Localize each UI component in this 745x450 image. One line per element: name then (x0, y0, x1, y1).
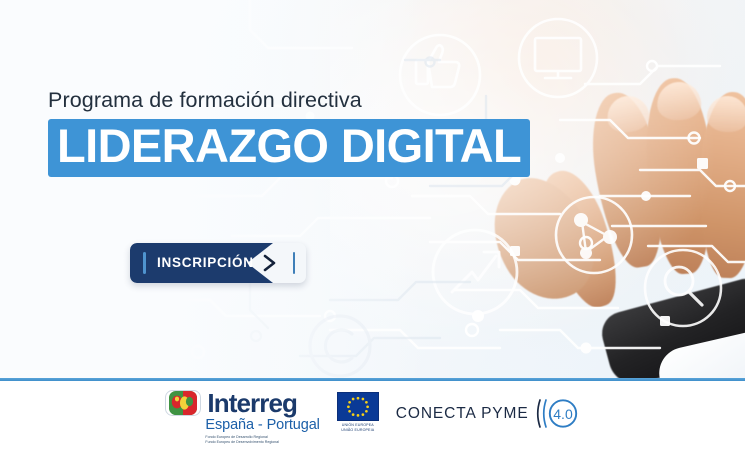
hero-left-fade (0, 0, 430, 380)
eu-flag-icon (337, 392, 379, 421)
interreg-mark-icon (165, 390, 201, 416)
inscripcion-button[interactable]: INSCRIPCIÓN (130, 243, 306, 283)
interreg-top-row: Interreg (165, 390, 297, 416)
banner-title-band: LIDERAZGO DIGITAL (48, 119, 530, 177)
banner-kicker: Programa de formación directiva (48, 88, 530, 113)
cta-label: INSCRIPCIÓN (157, 255, 254, 270)
eu-caption: UNIÓN EUROPEA UNIÃO EUROPEIA (341, 423, 374, 432)
interreg-fineprint-line-2: Fundo Europeu de Desenvolvimento Regiona… (205, 440, 279, 445)
headline-group: Programa de formación directiva LIDERAZG… (48, 88, 530, 177)
eu-caption-line-1: UNIÓN EUROPEA (341, 423, 374, 428)
chevron-right-icon (261, 254, 278, 272)
promo-banner: Programa de formación directiva LIDERAZG… (0, 0, 745, 450)
hero-background: Programa de formación directiva LIDERAZG… (0, 0, 745, 380)
conecta-pyme-40-badge-icon: 4.0 (534, 397, 580, 430)
eu-logo: UNIÓN EUROPEA UNIÃO EUROPEIA (337, 392, 379, 432)
conecta-pyme-logo: CONECTA PYME 4.0 (396, 397, 580, 430)
cta-accent-bar-left (143, 252, 146, 274)
conecta-pyme-wordmark: CONECTA PYME (396, 405, 529, 423)
cta-accent-bar-right (293, 252, 296, 274)
banner-title: LIDERAZGO DIGITAL (57, 121, 521, 171)
interreg-wordmark: Interreg (207, 390, 297, 416)
interreg-fineprint-line-1: Fondo Europeo de Desarrollo Regional (205, 435, 279, 440)
conecta-pyme-version: 4.0 (553, 406, 573, 422)
interreg-logo: Interreg España - Portugal Fondo Europeo… (165, 390, 319, 444)
eu-caption-line-2: UNIÃO EUROPEIA (341, 428, 374, 433)
interreg-subtitle: España - Portugal (165, 417, 319, 433)
interreg-fineprint: Fondo Europeo de Desarrollo Regional Fun… (165, 435, 279, 444)
footer-logos: Interreg España - Portugal Fondo Europeo… (0, 381, 745, 450)
